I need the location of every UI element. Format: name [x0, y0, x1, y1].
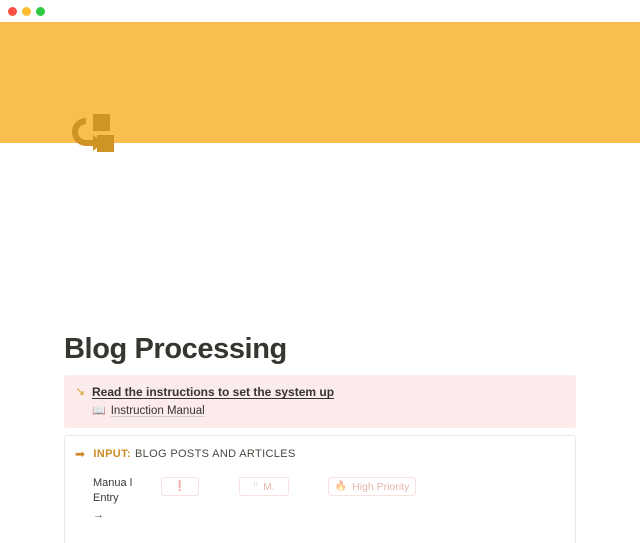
- right-arrow-icon: ➡: [75, 448, 85, 460]
- double-exclamation-mark-icon: ‼: [253, 482, 258, 492]
- arrow-squares-logo-icon[interactable]: [66, 113, 120, 159]
- chip-double-exclamation-label: M.: [263, 481, 275, 493]
- chip-double-exclamation[interactable]: ‼ M.: [239, 477, 289, 496]
- open-book-icon: 📖: [92, 406, 106, 417]
- manual-entry-label[interactable]: Manua l Entry →: [93, 476, 133, 523]
- minimize-button[interactable]: [22, 7, 31, 16]
- priority-chip-group: ❗ ‼ M. 🔥 High Priority: [161, 477, 416, 496]
- manual-entry-label-line-1: Manua: [93, 477, 127, 489]
- instruction-manual-link[interactable]: Instruction Manual: [111, 405, 205, 417]
- chip-exclamation[interactable]: ❗: [161, 477, 199, 496]
- chip-high-priority[interactable]: 🔥 High Priority: [328, 477, 416, 496]
- page-title[interactable]: Blog Processing: [64, 333, 287, 366]
- fire-icon: 🔥: [335, 482, 347, 492]
- instructions-callout[interactable]: ↘ Read the instructions to set the syste…: [64, 375, 576, 428]
- input-description: BLOG POSTS AND ARTICLES: [135, 448, 296, 460]
- close-button[interactable]: [8, 7, 17, 16]
- arrow-down-right-icon: ↘: [75, 384, 92, 399]
- callout-sub-row: 📖 Instruction Manual: [92, 405, 564, 417]
- read-instructions-link[interactable]: Read the instructions to set the system …: [92, 384, 334, 400]
- callout-main-row: ↘ Read the instructions to set the syste…: [75, 384, 564, 400]
- input-section-card: ➡ INPUT: BLOG POSTS AND ARTICLES Manua l…: [64, 435, 576, 543]
- window-titlebar: [0, 0, 640, 22]
- zoom-button[interactable]: [36, 7, 45, 16]
- right-arrow-small-icon: →: [93, 508, 133, 523]
- chip-high-priority-label: High Priority: [352, 481, 409, 493]
- input-section-header: ➡ INPUT: BLOG POSTS AND ARTICLES: [75, 448, 575, 460]
- exclamation-mark-icon: ❗: [174, 482, 186, 492]
- input-entry-row: Manua l Entry → ❗ ‼ M. 🔥 High Priority: [75, 476, 575, 523]
- input-label: INPUT:: [93, 448, 131, 460]
